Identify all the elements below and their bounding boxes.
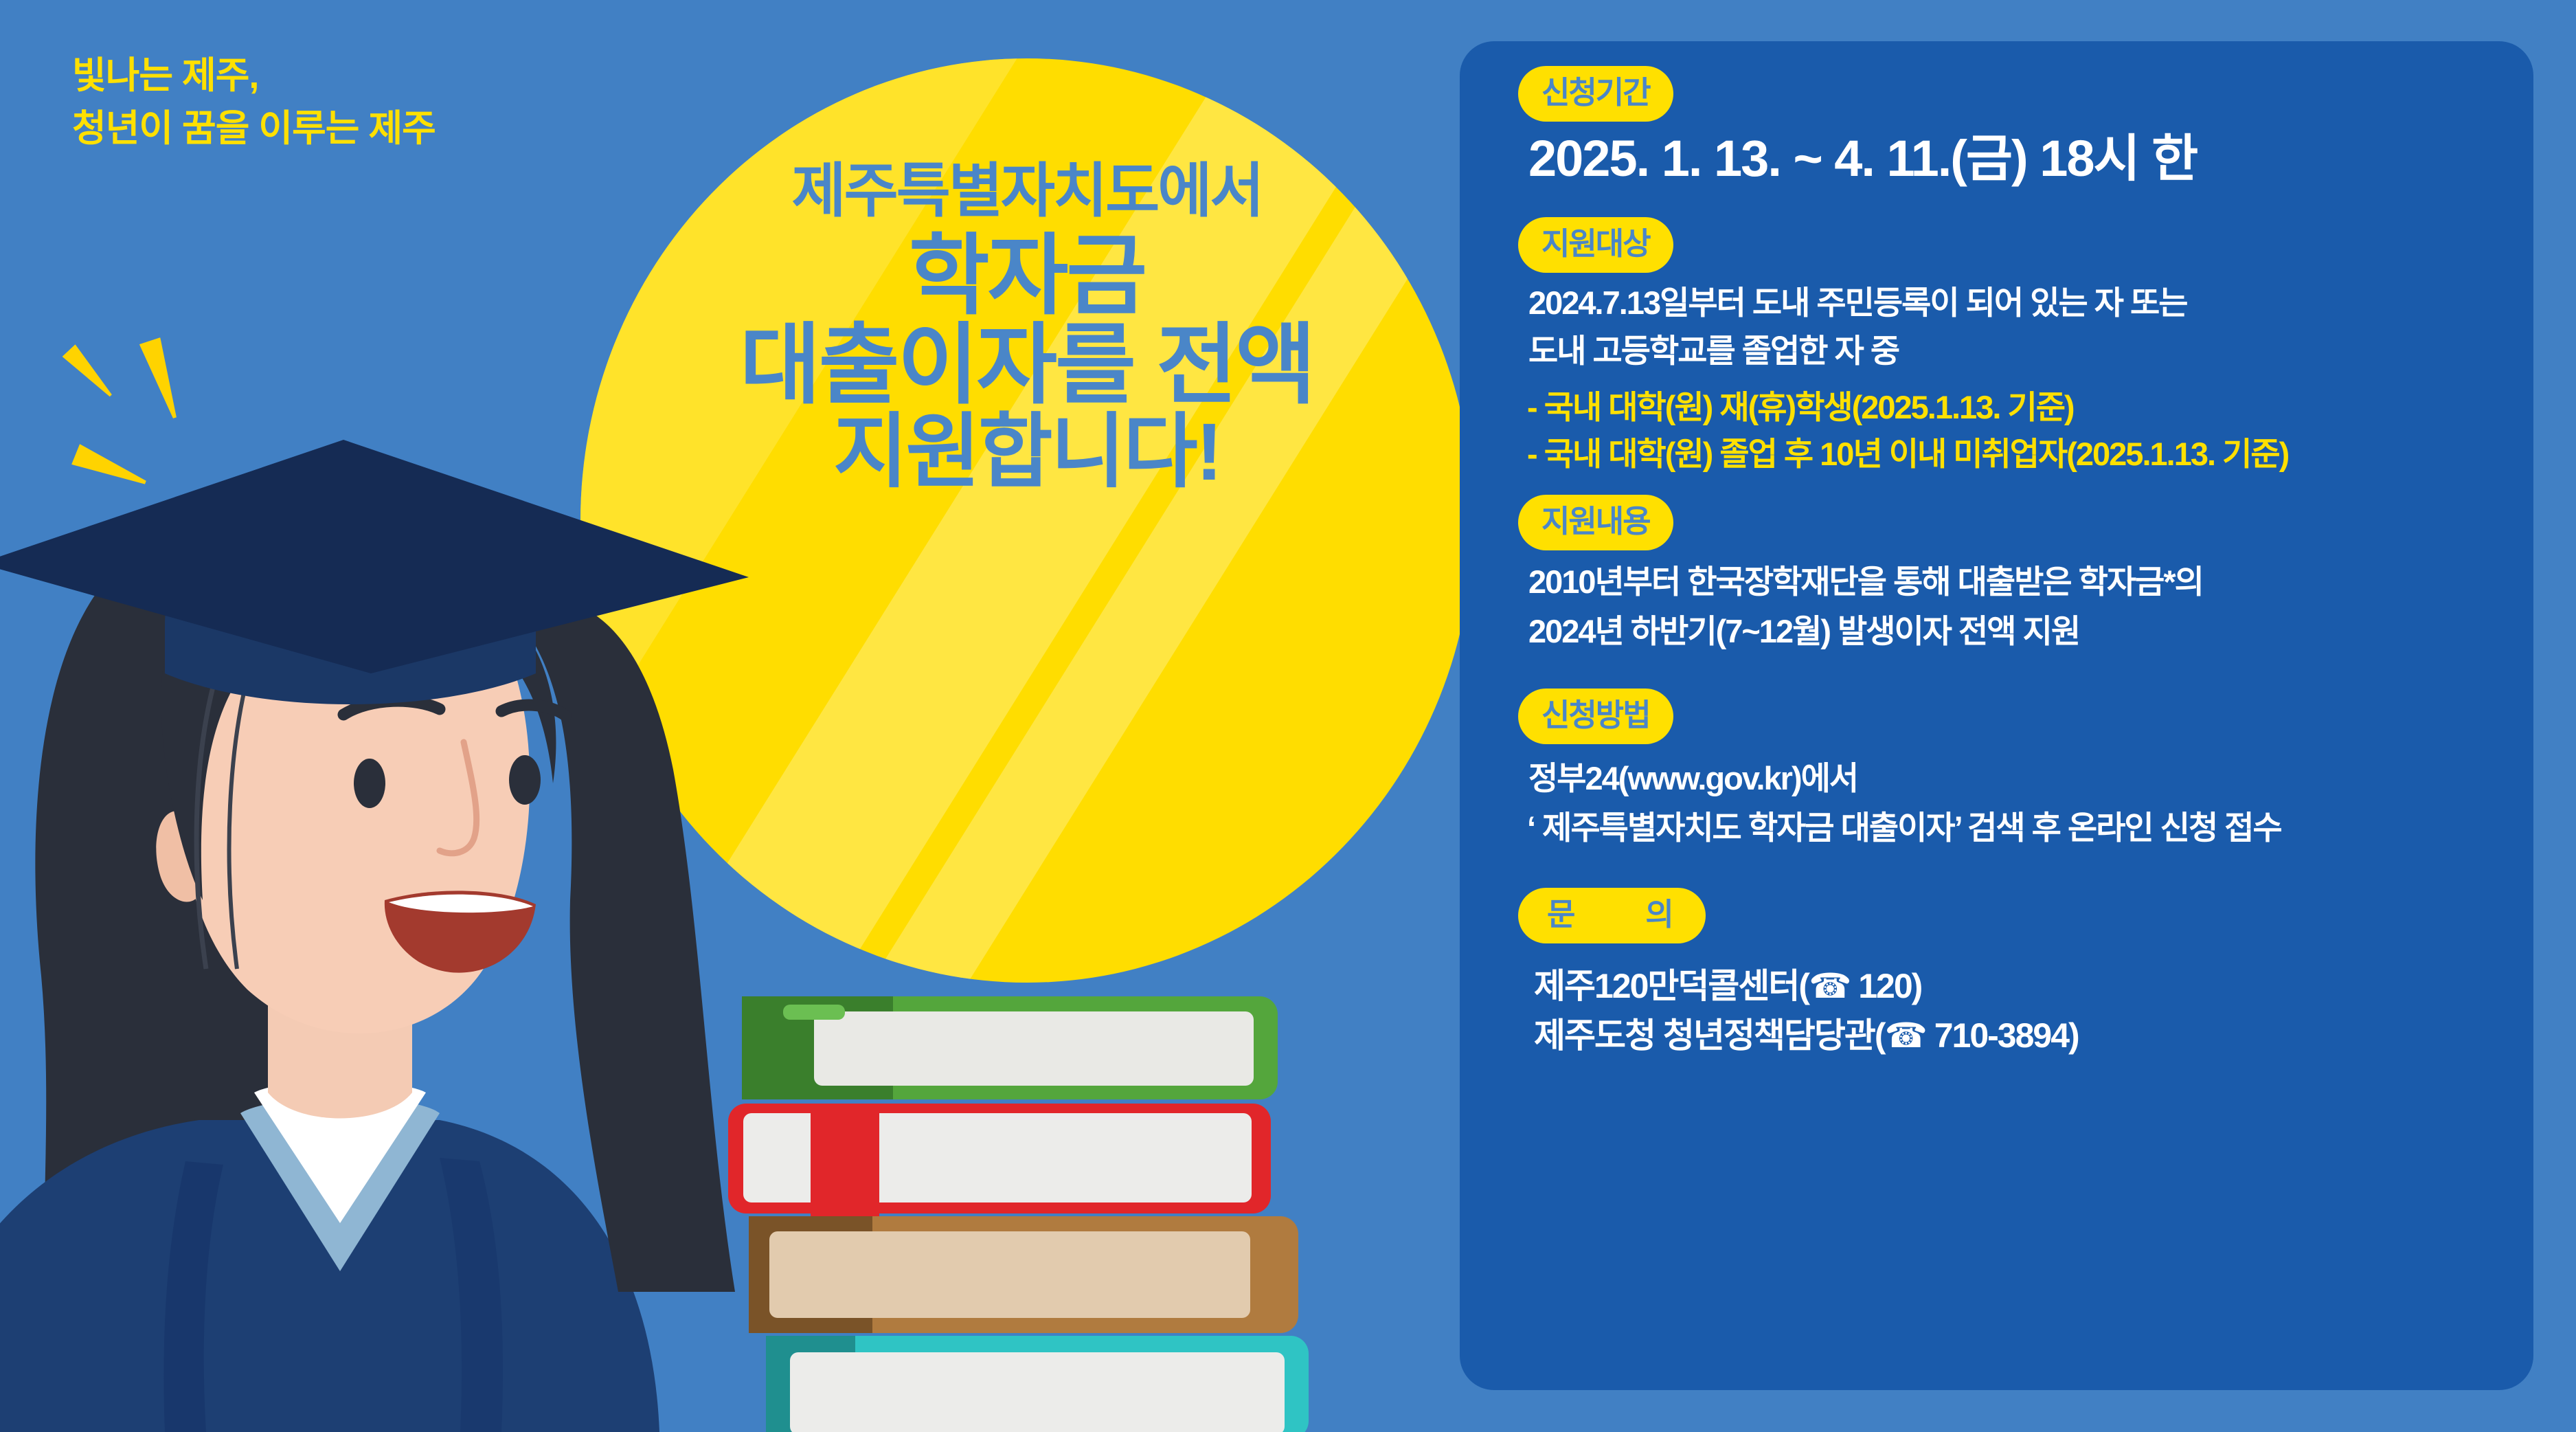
red-book xyxy=(728,1104,1271,1213)
main-message-line-2: 학자금 xyxy=(580,232,1473,322)
inquiry-line-2: 제주도청 청년정책담당관(☎ 710-3894) xyxy=(1534,1011,2079,1060)
support-line-1: 2010년부터 한국장학재단을 통해 대출받은 학자금*의 xyxy=(1528,561,2203,603)
info-panel: 신청기간 2025. 1. 13. ~ 4. 11.(금) 18시 한 지원대상… xyxy=(1460,41,2533,1390)
apply-line-2: ‘ 제주특별자치도 학자금 대출이자’ 검색 후 온라인 신청 접수 xyxy=(1527,807,2281,849)
page-title: 빛나는 제주, 청년이 꿈을 이루는 제주 xyxy=(72,49,436,155)
badge-how-to-apply: 신청방법 xyxy=(1518,689,1673,744)
eye-left xyxy=(354,759,385,808)
inquiry-line-1: 제주120만덕콜센터(☎ 120) xyxy=(1534,962,1921,1011)
eligibility-line-2: 도내 고등학교를 졸업한 자 중 xyxy=(1528,330,1899,372)
eligibility-bullet-2: - 국내 대학(원) 졸업 후 10년 이내 미취업자(2025.1.13. 기… xyxy=(1527,433,2288,475)
badge-eligibility: 지원대상 xyxy=(1518,217,1673,273)
green-book xyxy=(742,996,1278,1099)
main-message-line-1: 제주특별자치도에서 xyxy=(580,161,1473,222)
eye-right xyxy=(509,755,541,805)
badge-inquiry: 문 의 xyxy=(1518,888,1706,943)
apply-line-1: 정부24(www.gov.kr)에서 xyxy=(1528,757,1857,800)
eligibility-bullet-1: - 국내 대학(원) 재(휴)학생(2025.1.13. 기준) xyxy=(1527,386,2074,428)
poster-root: 빛나는 제주, 청년이 꿈을 이루는 제주 제주특별자치도에서 학자금 대출이자… xyxy=(0,0,2576,1432)
brown-book xyxy=(749,1216,1298,1333)
book-stack-illustration xyxy=(701,976,1319,1432)
badge-application-period: 신청기간 xyxy=(1518,66,1673,122)
application-period-value: 2025. 1. 13. ~ 4. 11.(금) 18시 한 xyxy=(1528,131,2197,186)
teal-book xyxy=(766,1336,1309,1432)
eligibility-line-1: 2024.7.13일부터 도내 주민등록이 되어 있는 자 또는 xyxy=(1528,282,2187,324)
support-line-2: 2024년 하반기(7~12월) 발생이자 전액 지원 xyxy=(1528,610,2079,653)
graduate-student-illustration xyxy=(0,330,749,1432)
badge-support-details: 지원내용 xyxy=(1518,495,1673,550)
